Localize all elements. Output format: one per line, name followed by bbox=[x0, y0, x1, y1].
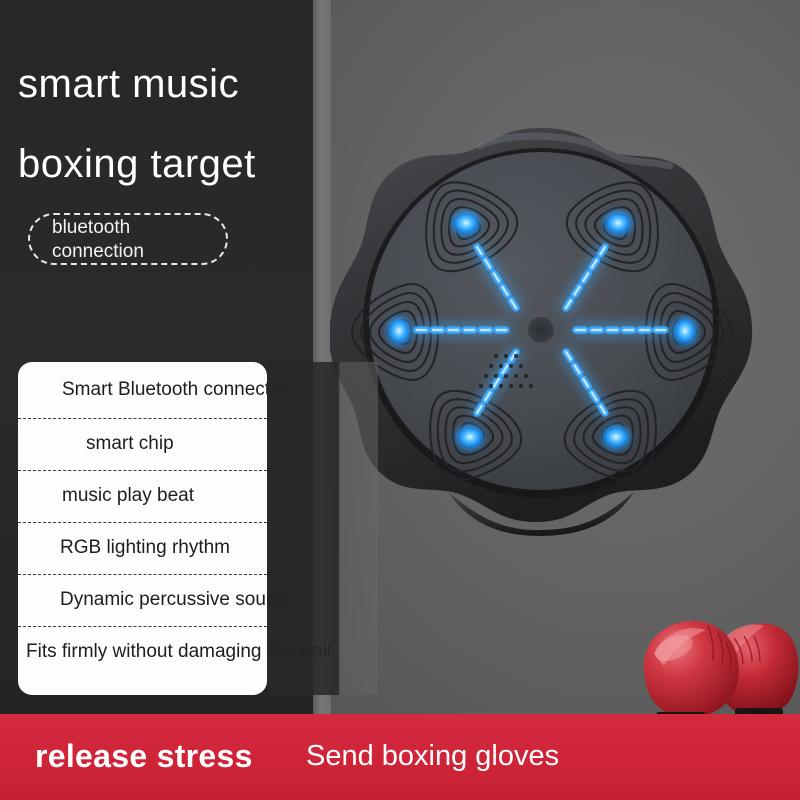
feature-label: smart chip bbox=[86, 433, 174, 455]
headline-line-2: boxing target bbox=[18, 124, 318, 204]
feature-label: RGB lighting rhythm bbox=[60, 537, 230, 559]
banner-text-right: Send boxing gloves bbox=[306, 740, 559, 773]
center-hub bbox=[528, 317, 554, 343]
feature-row: music play beat bbox=[18, 470, 378, 522]
headline-line-1: smart music bbox=[18, 62, 239, 106]
feature-row: Fits firmly without damaging the wall bbox=[18, 626, 378, 678]
feature-row: Dynamic percussive sound bbox=[18, 574, 378, 626]
banner-text-left: release stress bbox=[35, 738, 253, 775]
product-poster: smart music boxing target bluetooth conn… bbox=[0, 0, 800, 800]
feature-row: smart chip bbox=[18, 418, 378, 470]
bluetooth-connection-badge: bluetooth connection bbox=[28, 213, 228, 265]
feature-list: Smart Bluetooth connection smart chip mu… bbox=[18, 362, 378, 695]
headline: smart music boxing target bbox=[18, 44, 318, 204]
feature-label: Fits firmly without damaging the wall bbox=[26, 641, 331, 663]
badge-line-2: connection bbox=[52, 240, 226, 264]
boxing-target-device bbox=[330, 120, 770, 540]
bottom-banner: release stress Send boxing gloves bbox=[0, 714, 800, 800]
feature-row: RGB lighting rhythm bbox=[18, 522, 378, 574]
feature-label: music play beat bbox=[62, 485, 194, 507]
feature-row: Smart Bluetooth connection bbox=[18, 362, 378, 418]
feature-label: Dynamic percussive sound bbox=[60, 589, 287, 611]
badge-line-1: bluetooth bbox=[52, 216, 226, 240]
feature-label: Smart Bluetooth connection bbox=[62, 379, 295, 401]
